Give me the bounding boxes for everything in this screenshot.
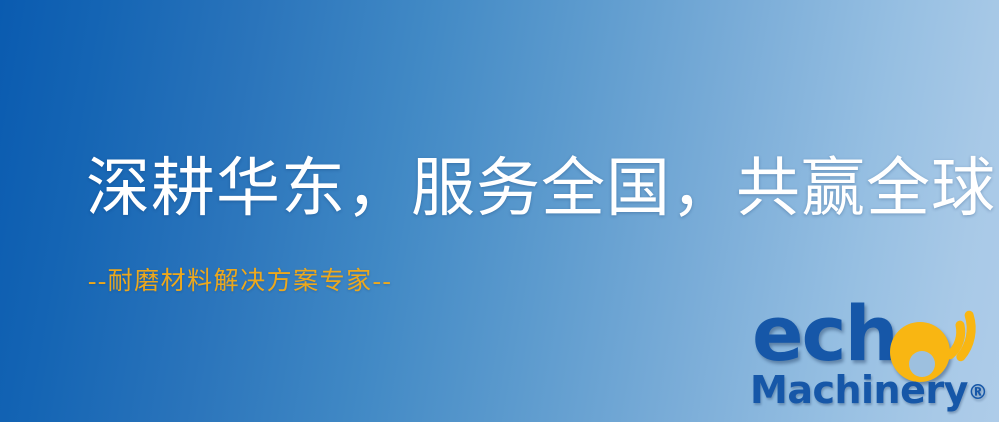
banner-headline: 深耕华东，服务全国，共赢全球 (86, 150, 996, 228)
wifi-arcs-icon (936, 308, 998, 370)
logo-text-ech: ech (752, 296, 897, 372)
company-logo[interactable]: ech Machinery® (744, 300, 996, 418)
hero-banner: 深耕华东，服务全国，共赢全球 --耐磨材料解决方案专家-- ech Machin… (0, 0, 999, 422)
logo-text-machinery: Machinery® (750, 370, 988, 412)
registered-trademark-icon: ® (968, 380, 988, 404)
logo-wordmark: ech (748, 300, 996, 374)
logo-machinery-label: Machinery (750, 368, 968, 412)
banner-subtitle: --耐磨材料解决方案专家-- (88, 266, 392, 298)
